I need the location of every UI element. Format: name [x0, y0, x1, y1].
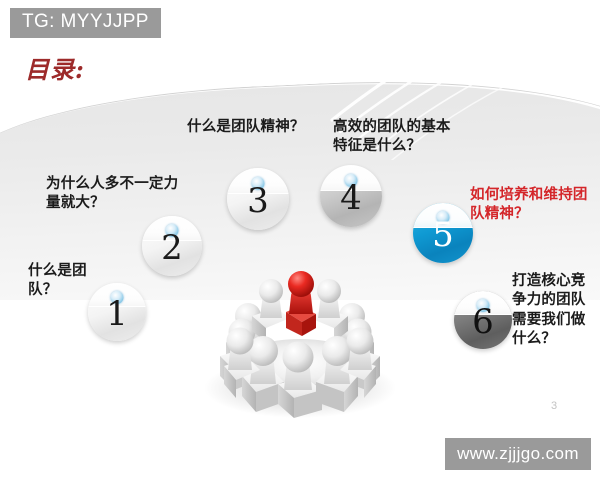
item-number-5: 5 [432, 218, 454, 252]
item-bubble-5[interactable]: 5 [413, 203, 473, 263]
item-label-4: 高效的团队的基本特征是什么？ [333, 118, 457, 157]
item-label-6: 打造核心竞争力的团队需要我们做什么？ [512, 272, 590, 349]
item-label-5: 如何培养和维持团队精神？ [470, 186, 590, 225]
item-number-4: 4 [340, 181, 362, 215]
item-label-3: 什么是团队精神？ [187, 118, 307, 137]
team-circle-illustration [190, 238, 410, 423]
slide-canvas: 目录: [0, 0, 600, 480]
watermark-top-left: TG: MYYJJPP [10, 8, 161, 38]
leader-figure [286, 271, 316, 336]
item-label-2: 为什么人多不一定力量就大？ [46, 175, 184, 214]
item-bubble-6[interactable]: 6 [454, 291, 512, 349]
page-number: 3 [551, 400, 557, 412]
item-number-6: 6 [472, 305, 494, 339]
item-number-3: 3 [247, 184, 269, 218]
watermark-bottom-right: www.zjjjgo.com [445, 438, 591, 470]
item-bubble-2[interactable]: 2 [142, 216, 202, 276]
item-number-2: 2 [161, 231, 183, 265]
item-number-1: 1 [106, 297, 128, 331]
page-title: 目录: [25, 50, 85, 85]
item-bubble-1[interactable]: 1 [88, 283, 146, 341]
item-bubble-4[interactable]: 4 [320, 165, 382, 227]
item-bubble-3[interactable]: 3 [227, 168, 289, 230]
